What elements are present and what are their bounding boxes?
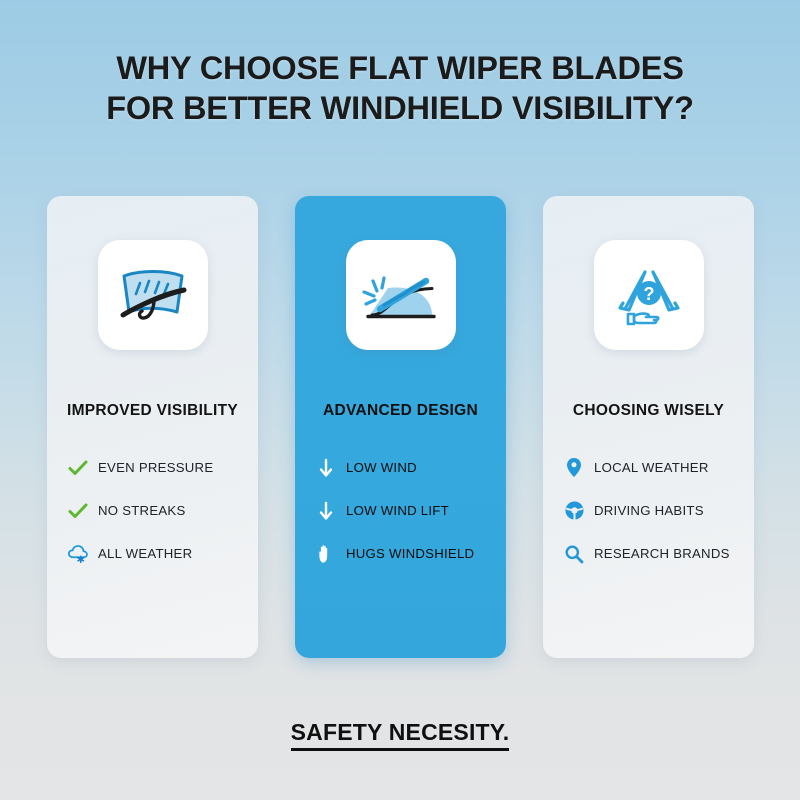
feature-label: ALL WEATHER bbox=[98, 546, 192, 561]
card-row: IMPROVED VISIBILITY EVEN PRESSURE NO STR… bbox=[47, 196, 754, 658]
feature-label: LOW WIND LIFT bbox=[346, 503, 449, 518]
arrow-down-icon bbox=[315, 500, 337, 522]
feature-label: LOCAL WEATHER bbox=[594, 460, 709, 475]
page-title: WHY CHOOSE FLAT WIPER BLADES FOR BETTER … bbox=[0, 48, 800, 128]
check-icon bbox=[67, 457, 89, 479]
feature-item: ALL WEATHER bbox=[67, 539, 258, 568]
feature-item: LOW WIND bbox=[315, 453, 506, 482]
card-advanced-design[interactable]: ADVANCED DESIGN LOW WIND bbox=[295, 196, 506, 658]
hand-icon bbox=[315, 543, 337, 565]
feature-item: DRIVING HABITS bbox=[563, 496, 754, 525]
search-icon bbox=[563, 543, 585, 565]
page-title-line-2: FOR BETTER WINDHIELD VISIBILITY? bbox=[0, 88, 800, 128]
infographic-page: { "headline": { "line1": "WHY CHOOSE FLA… bbox=[0, 0, 800, 800]
arrow-down-icon bbox=[315, 457, 337, 479]
feature-list: LOW WIND LOW WIND LIFT HUGS WINDSHIEL bbox=[295, 453, 506, 582]
page-title-line-1: WHY CHOOSE FLAT WIPER BLADES bbox=[0, 48, 800, 88]
feature-item: HUGS WINDSHIELD bbox=[315, 539, 506, 568]
feature-list: EVEN PRESSURE NO STREAKS bbox=[47, 453, 258, 582]
feature-label: NO STREAKS bbox=[98, 503, 186, 518]
hero-icon-tile bbox=[346, 240, 456, 350]
feature-list: LOCAL WEATHER DRIVING HABITS bbox=[543, 453, 754, 582]
blades-question-hand-icon: ? bbox=[612, 260, 686, 330]
card-improved-visibility[interactable]: IMPROVED VISIBILITY EVEN PRESSURE NO STR… bbox=[47, 196, 258, 658]
feature-label: DRIVING HABITS bbox=[594, 503, 704, 518]
feature-label: HUGS WINDSHIELD bbox=[346, 546, 474, 561]
windshield-rain-wiper-icon bbox=[114, 260, 192, 330]
feature-item: NO STREAKS bbox=[67, 496, 258, 525]
feature-item: RESEARCH BRANDS bbox=[563, 539, 754, 568]
steering-wheel-icon bbox=[563, 500, 585, 522]
feature-item: LOCAL WEATHER bbox=[563, 453, 754, 482]
check-icon bbox=[67, 500, 89, 522]
card-title: IMPROVED VISIBILITY bbox=[67, 402, 238, 420]
feature-item: LOW WIND LIFT bbox=[315, 496, 506, 525]
feature-label: LOW WIND bbox=[346, 460, 417, 475]
card-title: ADVANCED DESIGN bbox=[323, 402, 478, 420]
location-pin-icon bbox=[563, 457, 585, 479]
footer-text: SAFETY NECESITY. bbox=[291, 719, 510, 751]
feature-label: EVEN PRESSURE bbox=[98, 460, 213, 475]
cloud-snow-icon bbox=[67, 543, 89, 565]
aerodynamic-wedge-blade-icon bbox=[362, 263, 440, 327]
svg-text:?: ? bbox=[643, 284, 654, 304]
hero-icon-tile bbox=[98, 240, 208, 350]
feature-label: RESEARCH BRANDS bbox=[594, 546, 730, 561]
card-choosing-wisely[interactable]: ? CHOOSING WISELY LOCAL WEATHER bbox=[543, 196, 754, 658]
footer: SAFETY NECESITY. bbox=[0, 719, 800, 751]
hero-icon-tile: ? bbox=[594, 240, 704, 350]
card-title: CHOOSING WISELY bbox=[573, 402, 724, 420]
feature-item: EVEN PRESSURE bbox=[67, 453, 258, 482]
